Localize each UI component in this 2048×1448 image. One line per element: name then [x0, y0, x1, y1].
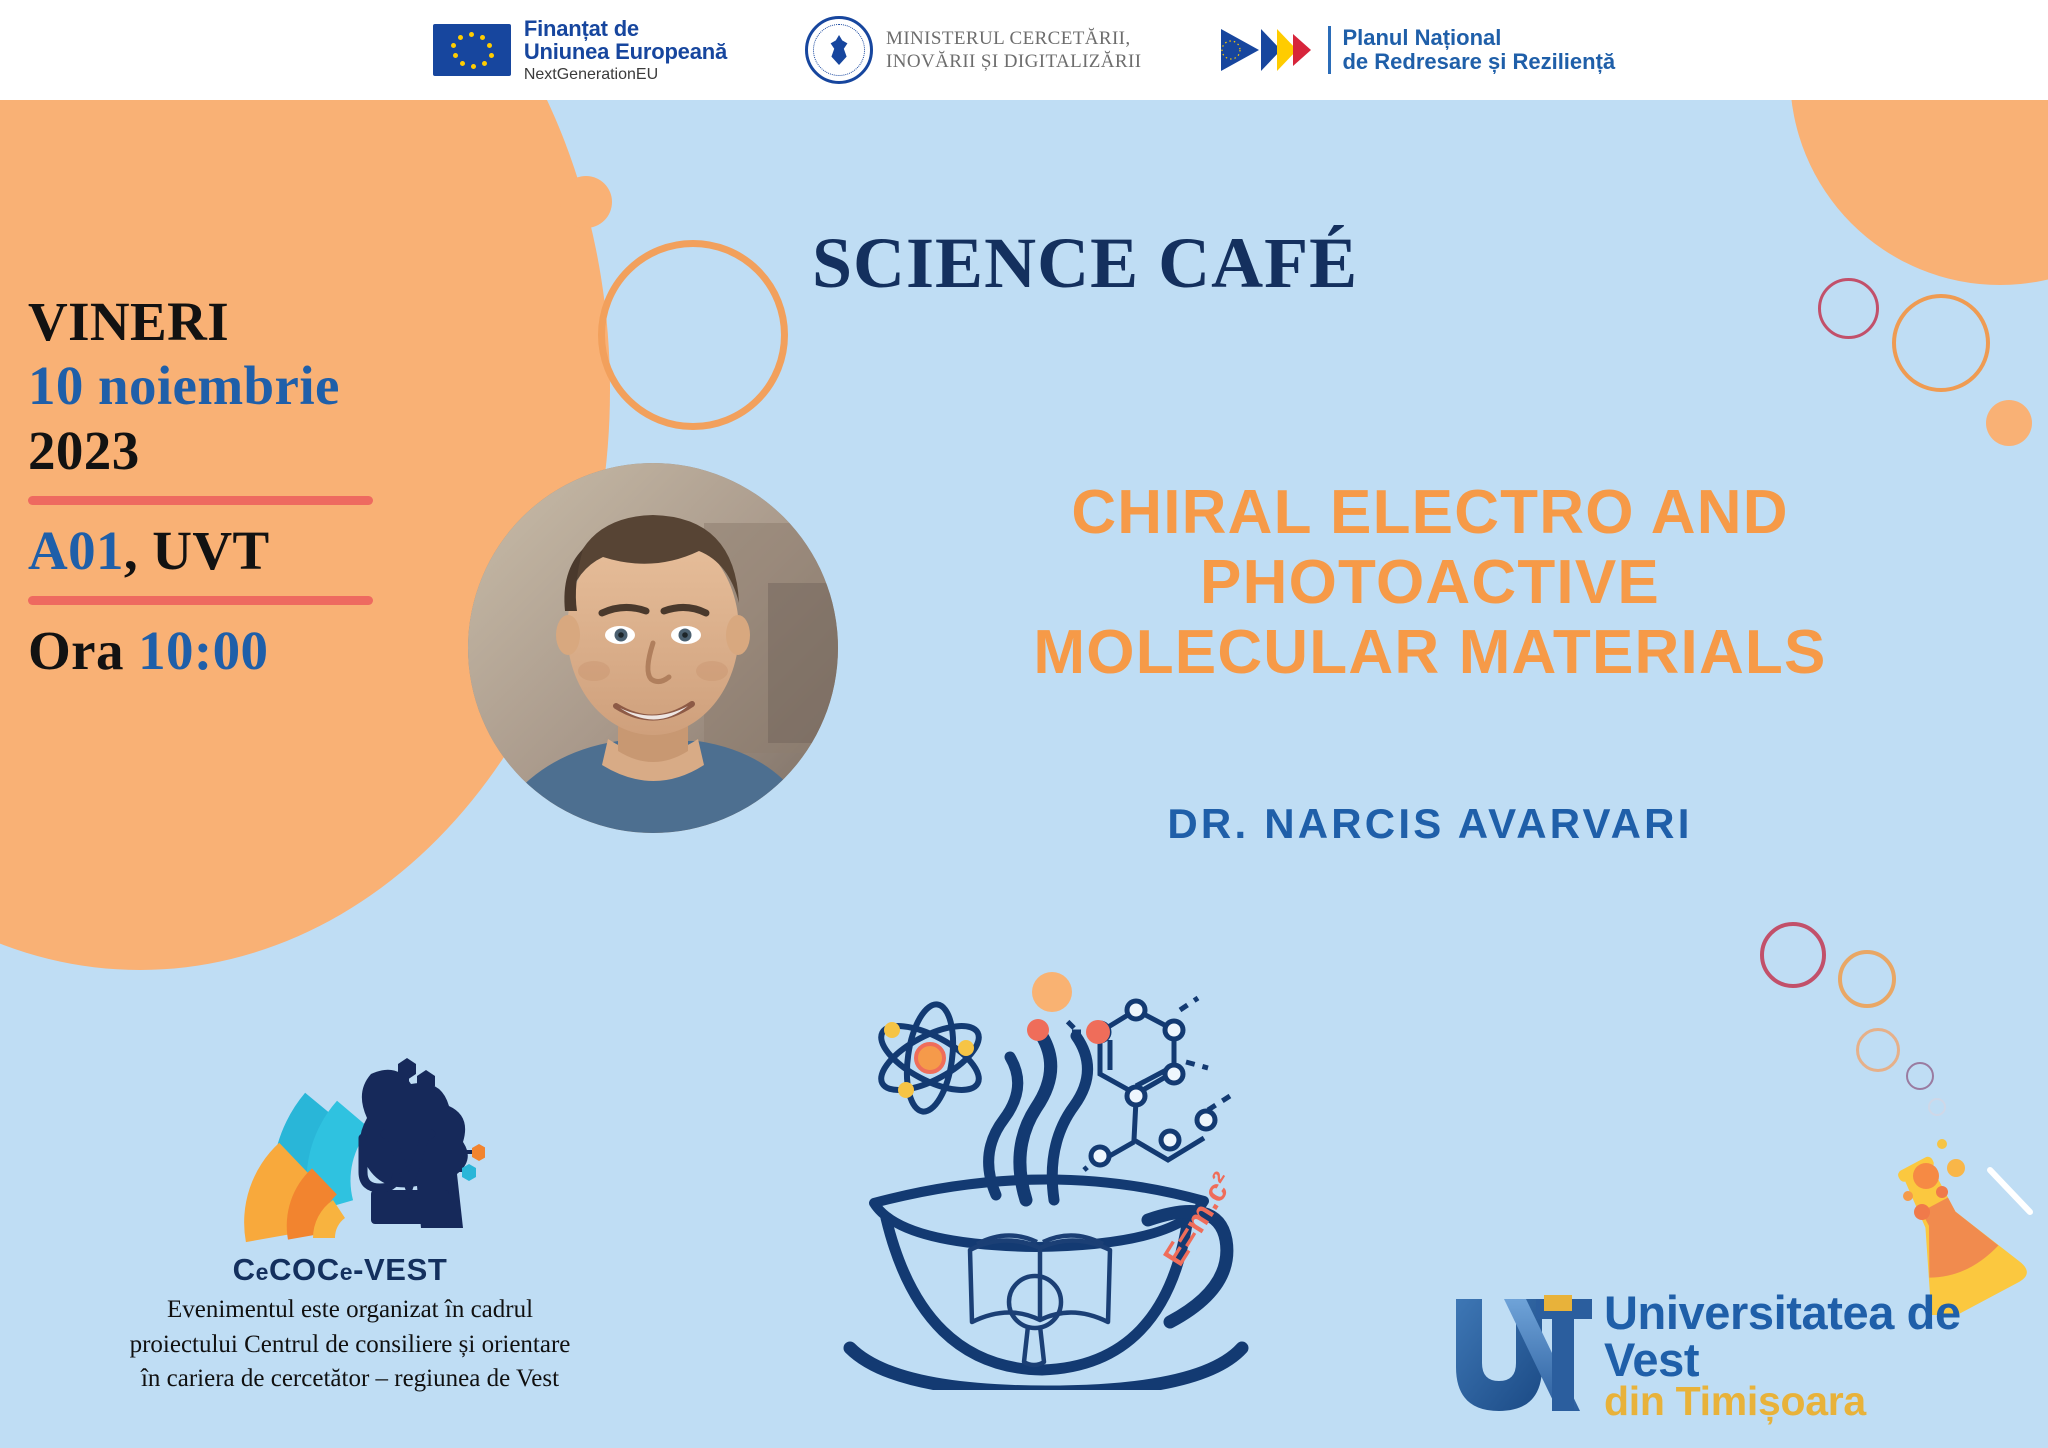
speaker-portrait-illustration [468, 463, 838, 833]
uvt-monogram-icon [1450, 1293, 1600, 1418]
orange-ring-1 [598, 240, 788, 430]
event-time-label: Ora [28, 620, 124, 681]
eu-funding-logo: Finanțat de Uniunea Europeană NextGenera… [433, 17, 727, 83]
pnrr-arrow-svg [1219, 25, 1315, 75]
event-room-code: A01 [28, 520, 124, 581]
science-coffee-cup-icon: E=m.c² [830, 950, 1260, 1390]
steam-dot-small [1027, 1019, 1049, 1041]
orange-ring-4 [1856, 1028, 1900, 1072]
speaker-name: DR. NARCIS AVARVARI [900, 800, 1960, 848]
eu-line-1: Finanțat de [524, 17, 727, 41]
event-room-suffix: , UVT [124, 520, 270, 581]
uvt-logo: Universitatea de Vest din Timișoara [1450, 1288, 2010, 1423]
series-title: SCIENCE CAFÉ [812, 222, 1358, 305]
poster-canvas: Finanțat de Uniunea Europeană NextGenera… [0, 0, 2048, 1448]
divider-rule-2 [28, 596, 373, 605]
talk-title-line-3: MOLECULAR MATERIALS [900, 618, 1960, 688]
flask-bubble-6 [1937, 1139, 1947, 1149]
orange-dot-1 [560, 176, 612, 228]
event-year: 2023 [28, 419, 428, 483]
uvt-line-1: Universitatea de Vest [1604, 1289, 2010, 1383]
talk-title-line-2: PHOTOACTIVE [900, 548, 1960, 618]
eu-line-2: Uniunea Europeană [524, 40, 727, 64]
ministry-text: MINISTERUL CERCETĂRII, INOVĂRII ȘI DIGIT… [886, 27, 1141, 73]
project-note-line-3: în cariera de cercetător – regiunea de V… [50, 1362, 650, 1397]
orange-ring-2 [1892, 294, 1990, 392]
cecoce-coc: COC [269, 1252, 340, 1287]
coffee-cup-svg: E=m.c² [830, 950, 1260, 1390]
cecoce-e2: e [340, 1259, 353, 1285]
purple-ring-1 [1906, 1062, 1934, 1090]
atom-icon [872, 1001, 988, 1114]
steam-dot-large [1032, 972, 1072, 1012]
romania-government-seal-icon [805, 16, 873, 84]
flask-bubble-2 [1947, 1159, 1965, 1177]
flask-bubble-1 [1913, 1163, 1939, 1189]
project-note-line-2: proiectului Centrul de consiliere și ori… [50, 1328, 650, 1363]
flask-bubble-3 [1936, 1186, 1948, 1198]
cecoce-vest: -VEST [353, 1252, 447, 1287]
eagle-glyph-icon [829, 35, 849, 65]
talk-title-line-1: CHIRAL ELECTRO AND [900, 478, 1960, 548]
pnrr-arrow-flag-icon [1219, 25, 1315, 75]
cecoce-c1: C [233, 1252, 256, 1287]
event-time: Ora 10:00 [28, 619, 428, 683]
funding-logos-band: Finanțat de Uniunea Europeană NextGenera… [0, 0, 2048, 100]
molecule-highlight-atom [1086, 1020, 1110, 1044]
project-note-line-1: Evenimentul este organizat în cadrul [50, 1293, 650, 1328]
ministry-line-1: MINISTERUL CERCETĂRII, [886, 27, 1141, 50]
uvt-monogram-svg [1450, 1293, 1600, 1418]
eu-funding-text: Finanțat de Uniunea Europeană NextGenera… [524, 17, 727, 83]
event-details-block: VINERI 10 noiembrie 2023 A01, UVT Ora 10… [28, 290, 428, 684]
event-day: VINERI [28, 290, 428, 354]
speaker-portrait [468, 463, 838, 833]
flask-bubble-4 [1914, 1204, 1930, 1220]
cecoce-vest-logo: CeCOCe-VEST [195, 1040, 485, 1288]
orange-dot-2 [1986, 400, 2032, 446]
flask-bubble-5 [1903, 1191, 1913, 1201]
crimson-ring-2 [1760, 922, 1826, 988]
flask-highlight [1990, 1170, 2030, 1212]
ministry-line-2: INOVĂRII ȘI DIGITALIZĂRII [886, 50, 1141, 73]
uvt-wordmark: Universitatea de Vest din Timișoara [1604, 1289, 2010, 1422]
orange-ring-3 [1838, 950, 1896, 1008]
eu-flag-icon [433, 24, 511, 76]
ministry-logo: MINISTERUL CERCETĂRII, INOVĂRII ȘI DIGIT… [805, 16, 1141, 84]
uvt-line-2: din Timișoara [1604, 1381, 2010, 1422]
event-room: A01, UVT [28, 519, 428, 583]
event-time-value: 10:00 [138, 620, 268, 681]
eu-line-3: NextGenerationEU [524, 66, 727, 83]
event-date: 10 noiembrie [28, 354, 428, 418]
faint-ring-1 [1928, 1098, 1946, 1116]
pnrr-line-1: Planul Național [1342, 26, 1615, 50]
pnrr-logo: Planul Național de Redresare și Rezilien… [1219, 25, 1615, 75]
pnrr-text: Planul Național de Redresare și Rezilien… [1328, 26, 1615, 74]
pnrr-line-2: de Redresare și Reziliență [1342, 50, 1615, 74]
crimson-ring-1 [1818, 278, 1879, 339]
project-note: Evenimentul este organizat în cadrul pro… [50, 1293, 650, 1397]
cecoce-logo-svg [195, 1040, 485, 1250]
divider-rule-1 [28, 496, 373, 505]
talk-title: CHIRAL ELECTRO AND PHOTOACTIVE MOLECULAR… [900, 478, 1960, 688]
cecoce-logo-wordmark: CeCOCe-VEST [195, 1252, 485, 1288]
cecoce-e1: e [256, 1259, 269, 1285]
